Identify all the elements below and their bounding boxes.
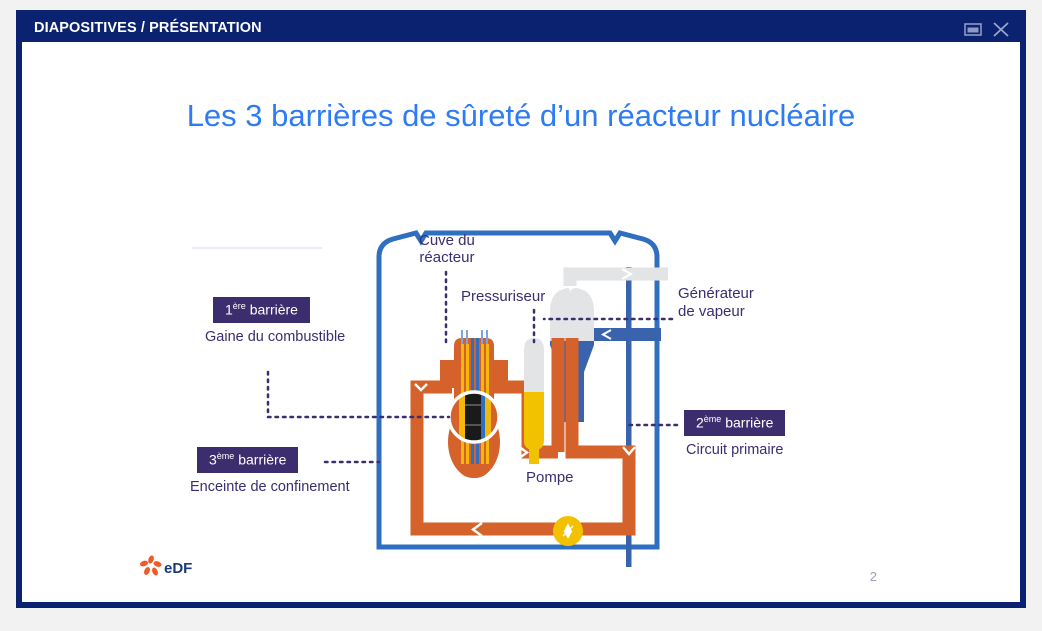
screen-root: DIAPOSITIVES / PRÉSENTATION Les 3 barriè… [0, 0, 1042, 631]
primary-pump [553, 516, 583, 546]
label-pompe: Pompe [526, 469, 574, 486]
barrier-2-label: barrière [725, 415, 773, 431]
pressurizer [524, 338, 544, 464]
pressurizer-surge-line [529, 442, 539, 464]
barrier-2-sublabel: Circuit primaire [686, 442, 784, 458]
slide-canvas: Les 3 barrières de sûreté d’un réacteur … [22, 42, 1020, 602]
barrier-2-ordinal: ème [704, 414, 722, 424]
label-cuve-line2: réacteur [419, 249, 475, 266]
barrier-1-number: 1 [225, 302, 233, 318]
label-pressuriseur: Pressuriseur [461, 288, 545, 305]
fuel-cladding-magnifier [449, 392, 499, 442]
barrier-2-badge: 2ème barrière [684, 410, 785, 436]
barrier-3-number: 3 [209, 452, 217, 468]
barrier-3-label: barrière [238, 452, 286, 468]
restore-window-icon[interactable] [962, 19, 984, 39]
barrier-1-ordinal: ère [233, 301, 246, 311]
barrier-1-badge: 1ère barrière [213, 297, 310, 323]
reactor-diagram [22, 42, 1020, 602]
barrier-1-sublabel: Gaine du combustible [205, 329, 345, 345]
window-titlebar: DIAPOSITIVES / PRÉSENTATION [22, 16, 1020, 42]
barrier-3-ordinal: ème [217, 451, 235, 461]
label-cuve-line1: Cuve du [419, 232, 475, 249]
edf-wordmark: eDF [164, 560, 192, 577]
window-title: DIAPOSITIVES / PRÉSENTATION [34, 20, 262, 36]
pressurizer-liquid [524, 392, 544, 450]
barrier-1-label: barrière [250, 302, 298, 318]
label-generateur-line1: Générateur [678, 285, 754, 303]
close-window-icon[interactable] [990, 19, 1012, 39]
barrier-3-badge: 3ème barrière [197, 447, 298, 473]
label-pressuriseur-line1: Pressuriseur [461, 288, 545, 305]
steam-outlet-line [570, 274, 668, 286]
label-cuve-du-reacteur: Cuve du réacteur [419, 232, 475, 266]
label-generateur-line2: de vapeur [678, 303, 754, 321]
presentation-window: DIAPOSITIVES / PRÉSENTATION Les 3 barriè… [16, 10, 1026, 608]
barrier-2-number: 2 [696, 415, 704, 431]
reactor-vessel [440, 330, 508, 478]
slide-page-number: 2 [870, 569, 877, 584]
label-generateur-de-vapeur: Générateur de vapeur [678, 285, 754, 321]
primary-circuit-hot-leg [558, 338, 629, 529]
barrier-3-sublabel: Enceinte de confinement [190, 479, 350, 495]
edf-pinwheel-icon [140, 555, 162, 577]
feedwater-inlet-line [589, 328, 661, 341]
edf-logo: eDF [140, 554, 210, 580]
label-pompe-line1: Pompe [526, 469, 574, 486]
